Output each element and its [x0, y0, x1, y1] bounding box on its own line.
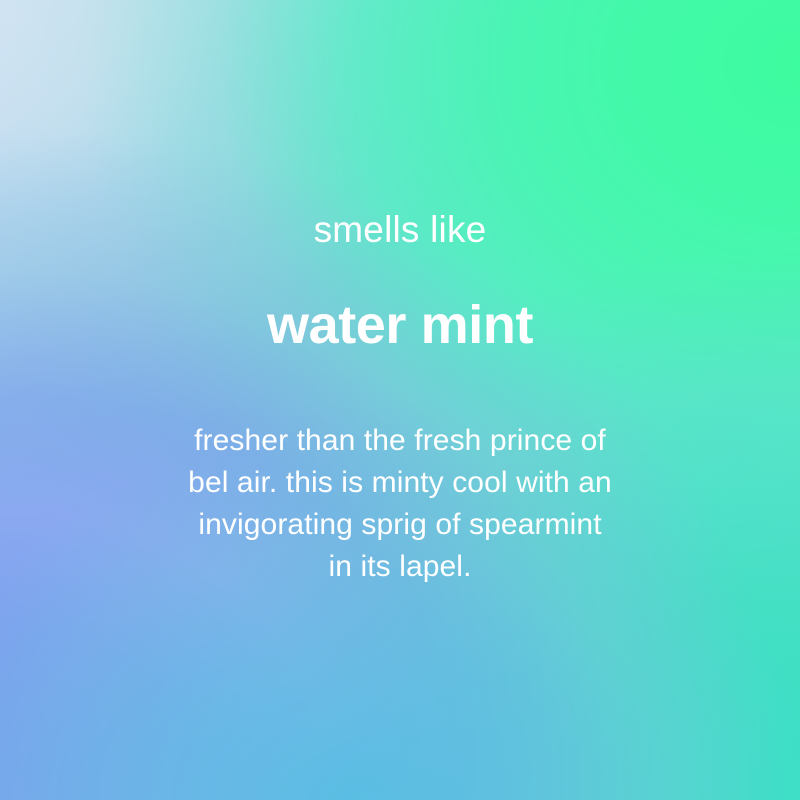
eyebrow-label: smells like [314, 207, 487, 253]
description-line: bel air. this is minty cool with an [140, 462, 660, 504]
description-line: invigorating sprig of spearmint [140, 504, 660, 546]
description-line: fresher than the fresh prince of [140, 420, 660, 462]
description-line: in its lapel. [140, 546, 660, 588]
card-content: smells like water mint fresher than the … [0, 0, 800, 800]
scent-title: water mint [267, 294, 533, 356]
scent-card: smells like water mint fresher than the … [0, 0, 800, 800]
scent-description: fresher than the fresh prince of bel air… [140, 420, 660, 588]
